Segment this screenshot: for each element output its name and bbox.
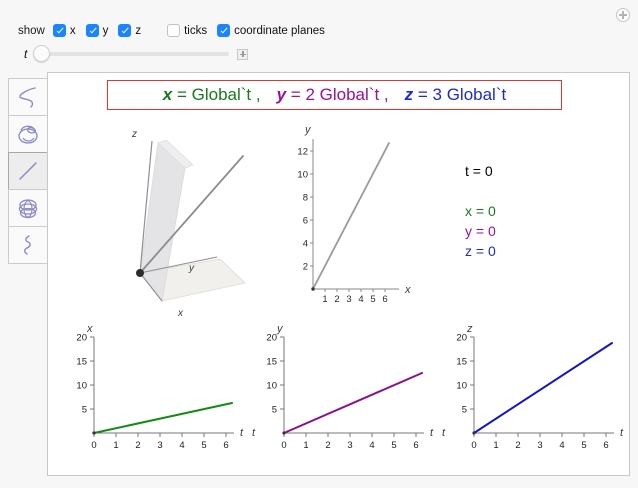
slider-t[interactable]	[33, 47, 229, 61]
svg-text:2: 2	[515, 440, 520, 451]
curve-preset-toolbar	[8, 78, 48, 263]
axis-label-x-3d: x	[177, 308, 184, 319]
curve-preset-spiral[interactable]	[8, 189, 48, 227]
plot-2d-canvas: 2 4 6 8 10 12 1 2	[291, 121, 421, 321]
svg-text:0: 0	[471, 440, 476, 451]
svg-text:6: 6	[382, 294, 387, 305]
curve-preset-loop[interactable]	[8, 115, 48, 153]
curve-y	[284, 373, 422, 433]
checkbox-x[interactable]: x	[53, 24, 86, 37]
ytick-labels-2d: 2 4 6 8 10 12	[297, 147, 308, 273]
yticks-y	[280, 337, 284, 409]
svg-text:12: 12	[297, 147, 308, 158]
checkbox-z-box[interactable]	[118, 24, 131, 37]
svg-text:4: 4	[559, 440, 564, 451]
svg-text:5: 5	[462, 405, 467, 416]
svg-text:0: 0	[281, 440, 286, 451]
svg-text:5: 5	[581, 440, 586, 451]
svg-text:20: 20	[266, 333, 277, 344]
application-window: show x y z ticks coordinate planes	[0, 0, 638, 488]
checkbox-coordinate-planes-label: coordinate planes	[234, 25, 325, 37]
svg-text:5: 5	[391, 440, 396, 451]
checkbox-z-label: z	[135, 25, 141, 37]
axis-label-t-z-left: t	[442, 427, 446, 439]
axis-label-y-title: y	[276, 323, 284, 335]
svg-text:15: 15	[456, 357, 467, 368]
ytick-labels-x: 5 10 15 20	[76, 333, 87, 416]
svg-text:20: 20	[456, 333, 467, 344]
checkbox-ticks-box[interactable]	[167, 24, 180, 37]
plot-x-vs-t[interactable]: 5 10 15 20 0 1 2	[56, 323, 246, 465]
slider-thumb[interactable]	[33, 45, 50, 62]
svg-text:20: 20	[76, 333, 87, 344]
svg-text:4: 4	[303, 239, 308, 250]
arc-curve-icon	[13, 84, 43, 110]
svg-text:10: 10	[297, 170, 308, 181]
formula-text: x = Global`t ,y = 2 Global`t ,z = 3 Glob…	[163, 85, 506, 105]
checkbox-ticks-label: ticks	[184, 25, 207, 37]
checkbox-y-label: y	[103, 25, 109, 37]
svg-text:1: 1	[493, 440, 498, 451]
axis-label-t-z: t	[620, 427, 624, 439]
line-curve-icon	[13, 158, 43, 184]
axis-label-y-2d: y	[304, 124, 312, 136]
svg-text:6: 6	[603, 440, 608, 451]
origin-point-3d	[136, 269, 144, 277]
axis-label-x-2d: x	[404, 284, 411, 296]
svg-text:5: 5	[201, 440, 206, 451]
wave-curve-icon	[13, 232, 43, 258]
svg-text:1: 1	[322, 294, 327, 305]
axis-label-y-3d: y	[188, 263, 195, 274]
svg-text:5: 5	[82, 405, 87, 416]
value-z: z = 0	[465, 243, 496, 259]
curve-preset-arc[interactable]	[8, 78, 48, 116]
checkbox-x-box[interactable]	[53, 24, 66, 37]
svg-text:6: 6	[413, 440, 418, 451]
formula-z-var: z	[405, 85, 414, 104]
formula-z-coef: 3	[433, 85, 447, 104]
xticks-z	[474, 433, 606, 437]
svg-text:4: 4	[358, 294, 363, 305]
checkbox-y[interactable]: y	[86, 24, 119, 37]
svg-text:2: 2	[334, 294, 339, 305]
svg-text:6: 6	[303, 216, 308, 227]
curve-preset-wave[interactable]	[8, 226, 48, 264]
curve-preset-line[interactable]	[8, 152, 48, 190]
svg-text:3: 3	[537, 440, 542, 451]
plot-x-canvas: 5 10 15 20 0 1 2	[56, 323, 246, 465]
svg-text:2: 2	[325, 440, 330, 451]
formula-y: y = 2 Global`t ,	[277, 85, 389, 104]
formula-x-body: Global`t	[192, 85, 252, 104]
xtick-labels-y: 0 1 2 3 4 5 6	[281, 440, 418, 451]
curve-2d	[313, 143, 389, 289]
origin-point-2d	[311, 287, 314, 290]
formula-x: x = Global`t ,	[163, 85, 261, 104]
values-readout: t = 0 x = 0 y = 0 z = 0	[453, 163, 583, 273]
plot-3d-canvas: z y x	[90, 121, 280, 321]
formula-y-sep: ,	[379, 85, 388, 104]
plot-z-vs-t[interactable]: 5 10 15 20 0 1 2	[436, 323, 626, 465]
svg-text:2: 2	[135, 440, 140, 451]
formula-z-eq: =	[413, 85, 432, 104]
svg-text:4: 4	[179, 440, 184, 451]
checkbox-y-box[interactable]	[86, 24, 99, 37]
svg-text:0: 0	[91, 440, 96, 451]
plot-y-canvas: 5 10 15 20 0 1 2	[246, 323, 436, 465]
origin-point-y	[282, 431, 285, 434]
ytick-labels-y: 5 10 15 20	[266, 333, 277, 416]
svg-text:2: 2	[303, 262, 308, 273]
spiral-curve-icon	[13, 195, 43, 221]
slider-row: t	[24, 47, 248, 61]
formula-x-var: x	[163, 85, 172, 104]
plot-3d-parametric[interactable]: z y x	[90, 121, 280, 321]
checkbox-coordinate-planes[interactable]: coordinate planes	[217, 24, 325, 37]
value-y: y = 0	[465, 223, 496, 239]
yticks-x	[90, 337, 94, 409]
value-t: t = 0	[465, 163, 493, 179]
formula-z-body: Global`t	[447, 85, 507, 104]
loop-curve-icon	[13, 121, 43, 147]
xticks-x	[94, 433, 226, 437]
formula-y-eq: =	[286, 85, 305, 104]
svg-text:3: 3	[347, 440, 352, 451]
svg-text:10: 10	[76, 381, 87, 392]
svg-text:15: 15	[76, 357, 87, 368]
add-circle-icon[interactable]	[616, 8, 630, 22]
svg-text:10: 10	[456, 381, 467, 392]
checkbox-z[interactable]: z	[118, 24, 167, 37]
slider-track[interactable]	[33, 52, 229, 56]
svg-text:6: 6	[223, 440, 228, 451]
axis-label-z-3d: z	[131, 129, 137, 140]
axis-label-x-title: x	[86, 323, 93, 335]
origin-point-x	[92, 431, 95, 434]
formula-y-coef: 2	[305, 85, 319, 104]
formula-y-body: Global`t	[320, 85, 380, 104]
formula-x-eq: =	[172, 85, 191, 104]
plot-xy-parametric[interactable]: 2 4 6 8 10 12 1 2	[291, 121, 421, 321]
axis-label-t-y-left: t	[252, 427, 256, 439]
ytick-labels-z: 5 10 15 20	[456, 333, 467, 416]
curve-z	[474, 343, 612, 433]
play-step-icon[interactable]	[237, 49, 248, 60]
svg-text:5: 5	[370, 294, 375, 305]
svg-text:3: 3	[157, 440, 162, 451]
svg-text:15: 15	[266, 357, 277, 368]
svg-text:5: 5	[272, 405, 277, 416]
svg-text:10: 10	[266, 381, 277, 392]
show-label: show	[18, 25, 45, 37]
axis-label-z-title: z	[466, 323, 473, 335]
yticks-z	[470, 337, 474, 409]
formula-y-var: y	[277, 85, 286, 104]
checkbox-row: show x y z ticks coordinate planes	[18, 24, 325, 37]
axis-label-t-y: t	[430, 427, 434, 439]
svg-text:4: 4	[369, 440, 374, 451]
svg-text:1: 1	[303, 440, 308, 451]
svg-text:8: 8	[303, 193, 308, 204]
svg-text:1: 1	[113, 440, 118, 451]
plus-glyph	[619, 11, 627, 19]
svg-text:3: 3	[346, 294, 351, 305]
slider-t-label: t	[24, 47, 27, 61]
xtick-labels-x: 0 1 2 3 4 5 6	[91, 440, 228, 451]
origin-point-z	[472, 431, 475, 434]
xtick-labels-2d: 1 2 3 4 5 6	[322, 294, 387, 305]
axis-label-t-x: t	[240, 427, 244, 439]
formula-x-sep: ,	[251, 85, 260, 104]
value-x: x = 0	[465, 203, 496, 219]
checkbox-ticks[interactable]: ticks	[167, 24, 217, 37]
curve-x	[94, 403, 232, 433]
xticks-y	[284, 433, 416, 437]
content-panel: x = Global`t ,y = 2 Global`t ,z = 3 Glob…	[47, 72, 630, 476]
formula-z: z = 3 Global`t	[405, 85, 507, 104]
formula-box: x = Global`t ,y = 2 Global`t ,z = 3 Glob…	[107, 80, 562, 110]
checkbox-coordinate-planes-box[interactable]	[217, 24, 230, 37]
plot-z-canvas: 5 10 15 20 0 1 2	[436, 323, 626, 465]
checkbox-x-label: x	[70, 25, 76, 37]
xtick-labels-z: 0 1 2 3 4 5 6	[471, 440, 608, 451]
plot-y-vs-t[interactable]: 5 10 15 20 0 1 2	[246, 323, 436, 465]
